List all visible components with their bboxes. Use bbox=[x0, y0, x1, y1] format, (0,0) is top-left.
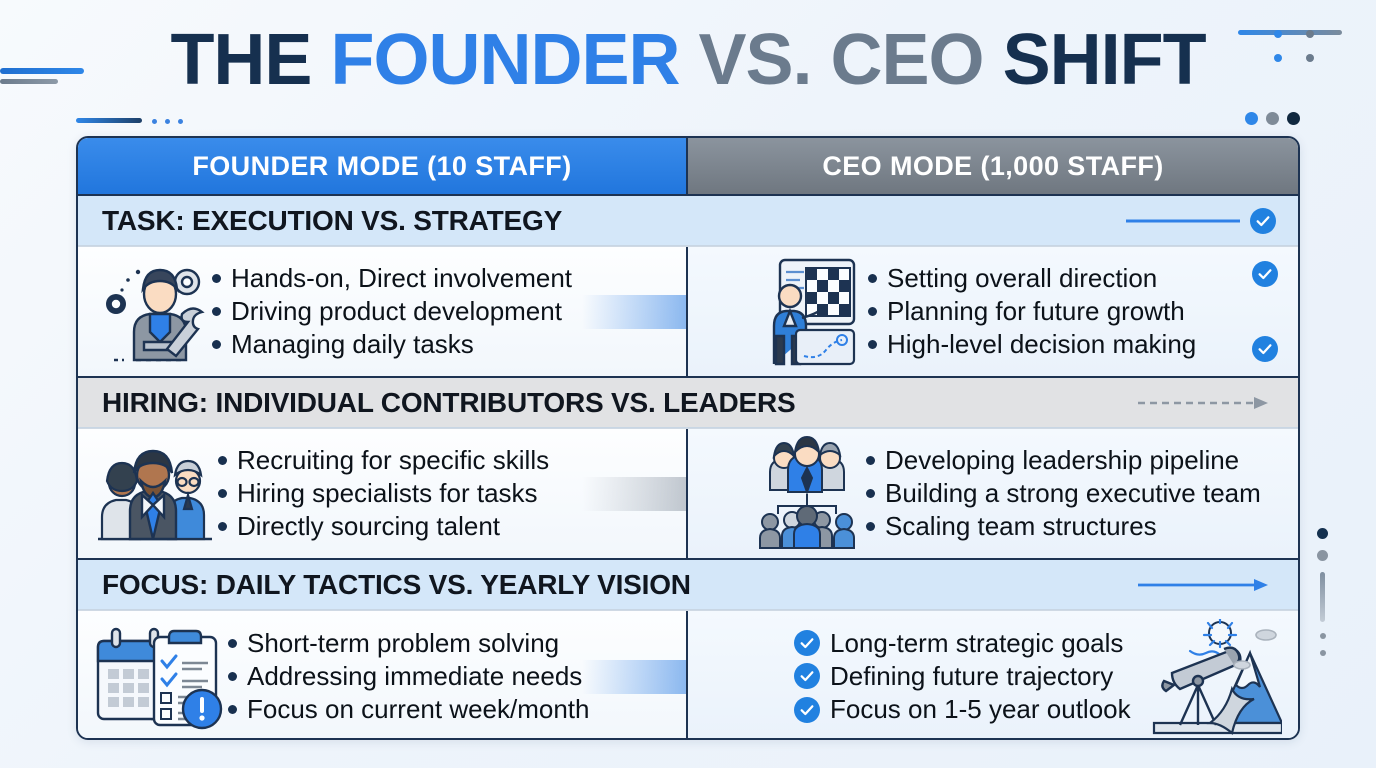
column-header-ceo: CEO MODE (1,000 STAFF) bbox=[688, 138, 1298, 194]
cell-hiring-founder: Recruiting for specific skills Hiring sp… bbox=[78, 429, 688, 558]
check-circle-icon bbox=[1252, 336, 1278, 362]
section-header-focus-label: FOCUS: DAILY TACTICS VS. YEARLY VISION bbox=[78, 569, 691, 601]
column-header-founder-label: FOUNDER MODE (10 STAFF) bbox=[192, 151, 571, 182]
section-header-focus: FOCUS: DAILY TACTICS VS. YEARLY VISION bbox=[78, 558, 1298, 610]
list-item: Building a strong executive team bbox=[866, 477, 1288, 510]
telescope-mountain-vision-icon bbox=[1146, 619, 1282, 735]
three-professionals-icon bbox=[92, 441, 218, 547]
section-header-task: TASK: EXECUTION VS. STRATEGY bbox=[78, 194, 1298, 246]
decor-right-rail bbox=[1317, 528, 1328, 656]
solid-arrow-icon bbox=[1136, 577, 1276, 593]
list-item: Hiring specialists for tasks bbox=[218, 477, 676, 510]
bullet-list-hiring-founder: Recruiting for specific skills Hiring sp… bbox=[218, 444, 676, 544]
check-circle-icon bbox=[1252, 261, 1278, 287]
list-item: Directly sourcing talent bbox=[218, 510, 676, 543]
section-accent-dashed-arrow bbox=[1136, 395, 1276, 411]
decor-dots-under-title bbox=[152, 119, 183, 124]
table-row-hiring: Recruiting for specific skills Hiring sp… bbox=[78, 428, 1298, 558]
strategy-board-presenter-icon bbox=[756, 256, 860, 368]
bullet-dot-icon bbox=[218, 489, 227, 498]
bullet-dot-icon bbox=[212, 274, 221, 283]
cell-task-ceo: Setting overall direction Planning for f… bbox=[688, 247, 1298, 376]
bullet-dot-icon bbox=[866, 456, 875, 465]
bullet-list-task-founder: Hands-on, Direct involvement Driving pro… bbox=[212, 262, 676, 362]
title-part-the: THE bbox=[170, 20, 330, 100]
list-item: Scaling team structures bbox=[866, 510, 1288, 543]
org-hierarchy-team-icon bbox=[756, 436, 860, 552]
bullet-list-hiring-ceo: Developing leadership pipeline Building … bbox=[866, 444, 1288, 544]
bullet-list-focus-ceo: Long-term strategic goals Defining futur… bbox=[794, 627, 1146, 727]
engineer-gears-wrench-icon bbox=[92, 256, 212, 368]
section-header-task-label: TASK: EXECUTION VS. STRATEGY bbox=[78, 205, 562, 237]
check-circle-icon bbox=[794, 630, 820, 656]
list-item: Planning for future growth bbox=[868, 295, 1288, 328]
title-part-vs-ceo: VS. CEO bbox=[698, 20, 1002, 100]
list-item: Setting overall direction bbox=[868, 262, 1288, 295]
bullet-dot-icon bbox=[868, 340, 877, 349]
column-header-ceo-label: CEO MODE (1,000 STAFF) bbox=[822, 151, 1163, 182]
section-header-hiring: HIRING: INDIVIDUAL CONTRIBUTORS VS. LEAD… bbox=[78, 376, 1298, 428]
bullet-dot-icon bbox=[212, 340, 221, 349]
list-item: Addressing immediate needs bbox=[228, 660, 676, 693]
list-item: Managing daily tasks bbox=[212, 328, 676, 361]
table-row-task: Hands-on, Direct involvement Driving pro… bbox=[78, 246, 1298, 376]
dashed-arrow-icon bbox=[1136, 395, 1276, 411]
accent-line-icon bbox=[1124, 216, 1244, 226]
check-circle-icon bbox=[794, 663, 820, 689]
bullet-dot-icon bbox=[218, 522, 227, 531]
cell-focus-founder: Short-term problem solving Addressing im… bbox=[78, 611, 688, 740]
list-item: Focus on current week/month bbox=[228, 693, 676, 726]
cell-task-founder: Hands-on, Direct involvement Driving pro… bbox=[78, 247, 688, 376]
list-item: Hands-on, Direct involvement bbox=[212, 262, 676, 295]
bullet-dot-icon bbox=[212, 307, 221, 316]
table-row-focus: Short-term problem solving Addressing im… bbox=[78, 610, 1298, 740]
bullet-dot-icon bbox=[866, 522, 875, 531]
list-item: Long-term strategic goals bbox=[794, 627, 1146, 660]
list-item: Recruiting for specific skills bbox=[218, 444, 676, 477]
list-item: Driving product development bbox=[212, 295, 676, 328]
cell-focus-ceo: Long-term strategic goals Defining futur… bbox=[688, 611, 1298, 740]
bullet-dot-icon bbox=[868, 274, 877, 283]
title-part-founder: FOUNDER bbox=[330, 20, 698, 100]
list-item: Short-term problem solving bbox=[228, 627, 676, 660]
table-header-row: FOUNDER MODE (10 STAFF) CEO MODE (1,000 … bbox=[78, 138, 1298, 194]
section-header-hiring-label: HIRING: INDIVIDUAL CONTRIBUTORS VS. LEAD… bbox=[78, 387, 796, 419]
calendar-checklist-alert-icon bbox=[92, 623, 228, 731]
comparison-table: FOUNDER MODE (10 STAFF) CEO MODE (1,000 … bbox=[76, 136, 1300, 740]
list-item: Developing leadership pipeline bbox=[866, 444, 1288, 477]
list-item: High-level decision making bbox=[868, 328, 1288, 361]
list-item: Defining future trajectory bbox=[794, 660, 1146, 693]
list-item: Focus on 1-5 year outlook bbox=[794, 693, 1146, 726]
bullet-dot-icon bbox=[866, 489, 875, 498]
bullet-dot-icon bbox=[868, 307, 877, 316]
decor-dots-top-right bbox=[1245, 112, 1300, 125]
check-circle-icon bbox=[1250, 208, 1276, 234]
cell-hiring-ceo: Developing leadership pipeline Building … bbox=[688, 429, 1298, 558]
bullet-dot-icon bbox=[228, 672, 237, 681]
check-circle-icon bbox=[794, 697, 820, 723]
bullet-dot-icon bbox=[228, 639, 237, 648]
section-accent-line-check bbox=[1124, 208, 1276, 234]
section-accent-solid-arrow bbox=[1136, 577, 1276, 593]
decor-bar-under-title bbox=[76, 118, 142, 123]
title-part-shift: SHIFT bbox=[1003, 20, 1206, 100]
column-header-founder: FOUNDER MODE (10 STAFF) bbox=[78, 138, 688, 194]
bullet-list-task-ceo: Setting overall direction Planning for f… bbox=[868, 262, 1288, 362]
page-title: THE FOUNDER VS. CEO SHIFT bbox=[0, 24, 1376, 96]
bullet-dot-icon bbox=[228, 705, 237, 714]
bullet-list-focus-founder: Short-term problem solving Addressing im… bbox=[228, 627, 676, 727]
bullet-dot-icon bbox=[218, 456, 227, 465]
